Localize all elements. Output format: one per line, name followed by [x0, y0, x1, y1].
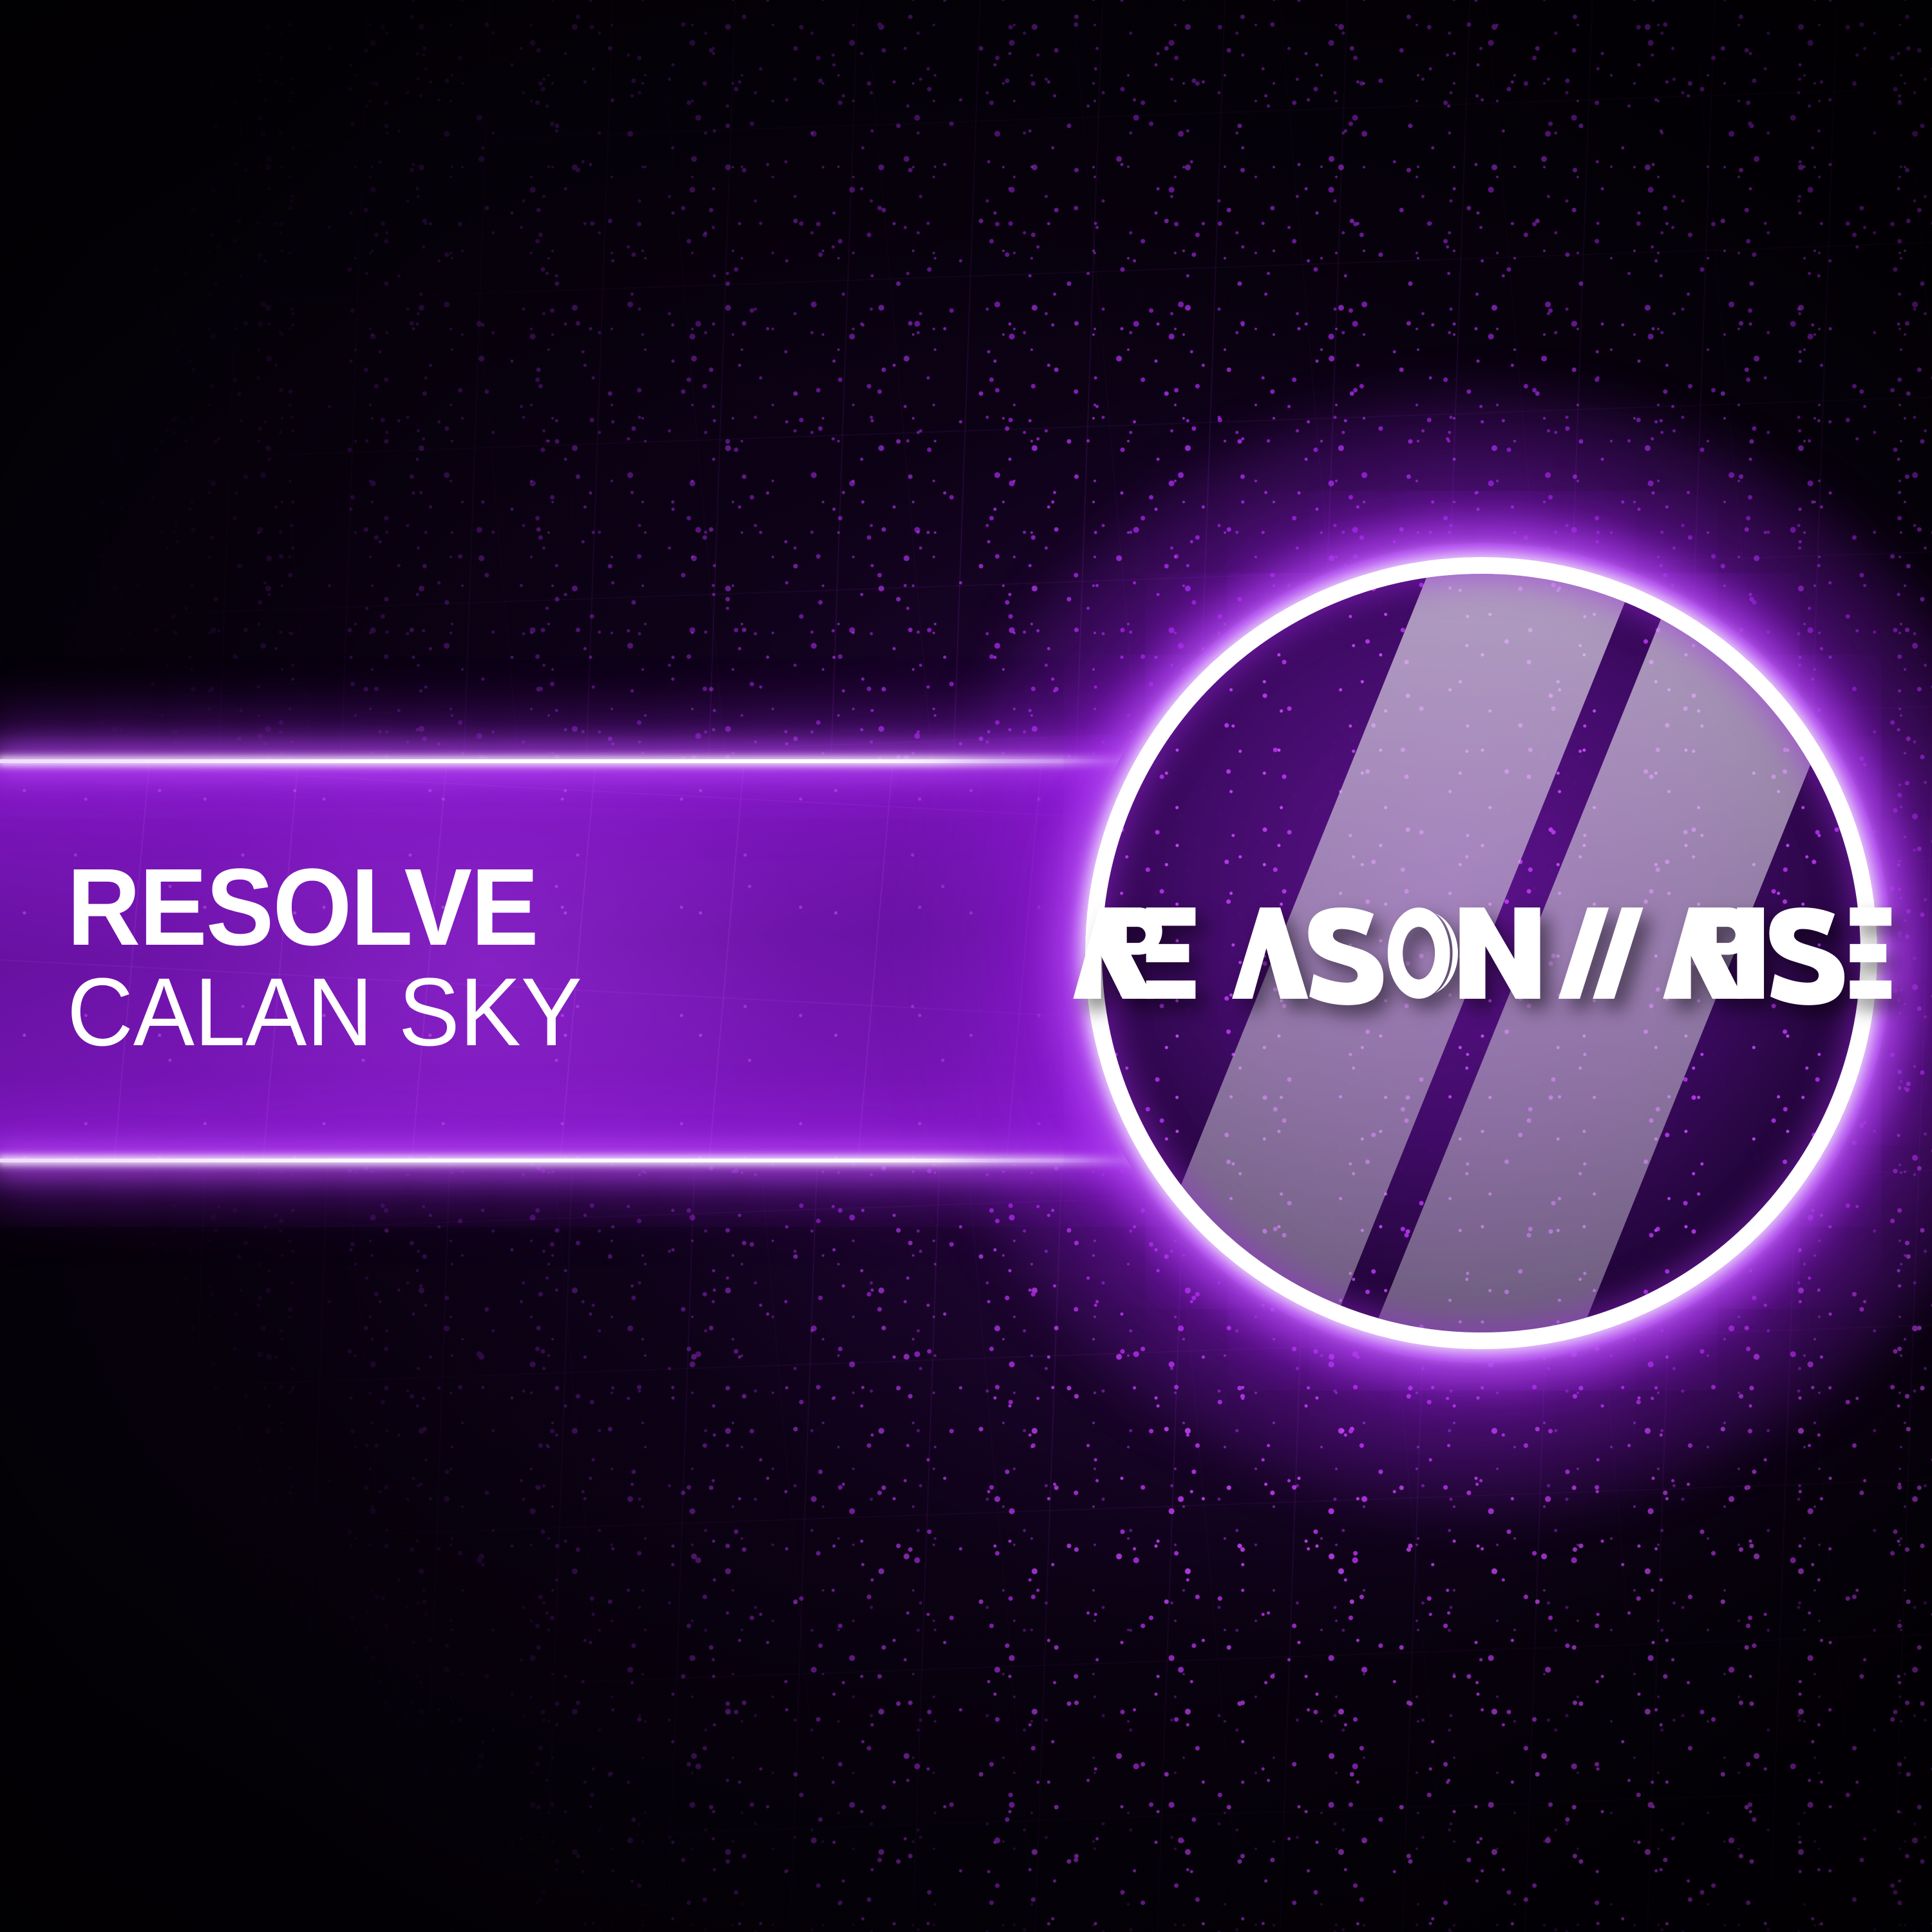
label-wordmark [1071, 898, 1891, 1008]
label-wordmark-svg [1071, 898, 1672, 1008]
label-wordmark-svg-rise [1661, 898, 1891, 1008]
album-cover: RESOLVE CALAN SKY [0, 0, 1932, 1932]
track-title: RESOLVE [67, 857, 846, 958]
title-block: RESOLVE CALAN SKY [67, 857, 904, 1060]
label-badge [1071, 543, 1891, 1363]
artist-name: CALAN SKY [67, 963, 862, 1060]
